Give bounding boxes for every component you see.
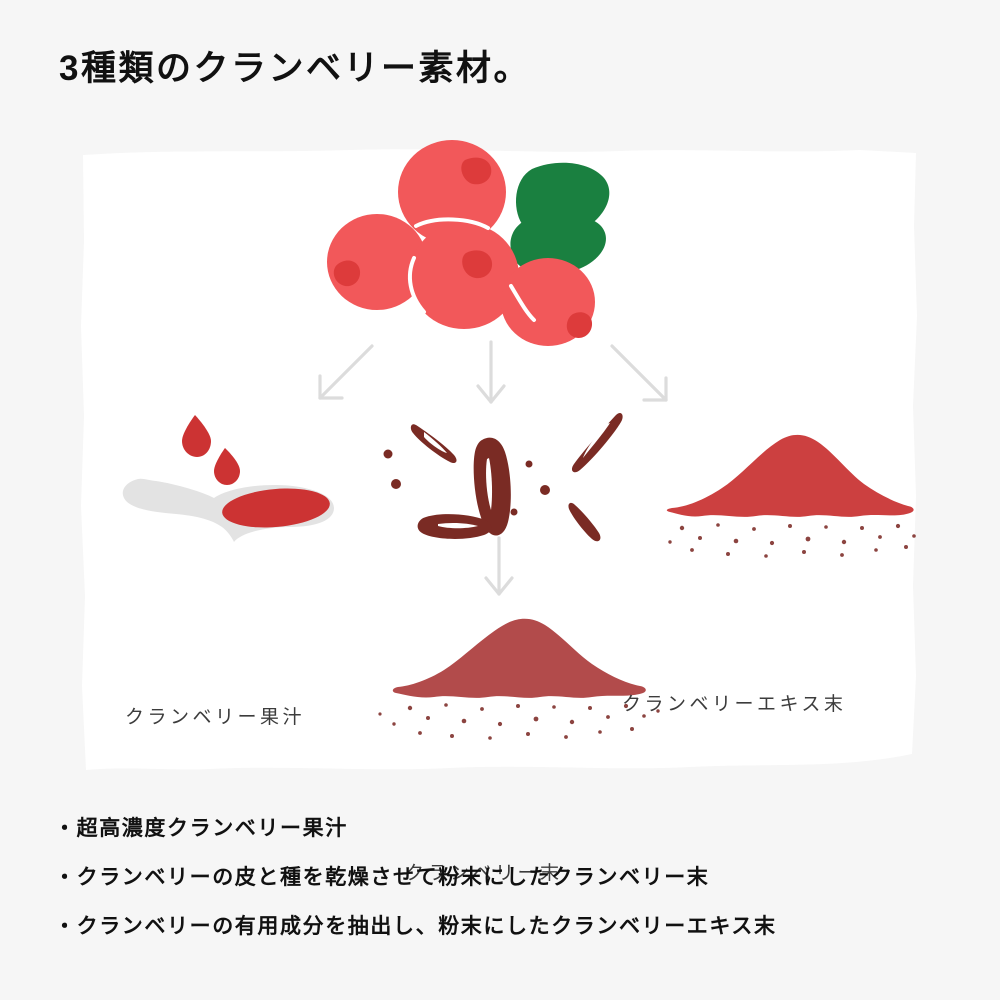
label-cranberry-juice: クランベリー果汁 — [125, 702, 305, 729]
page-title: 3種類のクランベリー素材。 — [59, 48, 531, 90]
cranberry-cluster-icon — [327, 140, 609, 346]
label-cranberry-extract-powder: クランベリーエキス末 — [622, 689, 846, 716]
extract-powder-specks — [668, 523, 916, 558]
seed-1 — [384, 450, 393, 459]
bullet-list: ・超高濃度クランベリー果汁 ・クランベリーの皮と種を乾燥させて粉末にしたクランベ… — [54, 818, 974, 965]
juice-drop-upper — [182, 415, 211, 457]
seed-5 — [511, 509, 518, 516]
bullet-item: ・クランベリーの有用成分を抽出し、粉末にしたクランベリーエキス末 — [54, 916, 974, 937]
arrow-seeds-to-powder — [486, 538, 512, 594]
extract-powder-mound-icon — [667, 435, 916, 558]
skin-bottom-right — [568, 503, 600, 541]
powder-mound-shape — [393, 619, 646, 698]
illustration-panel: クランベリー果汁 クランベリー末 クランベリーエキス末 — [80, 146, 918, 774]
powder-specks — [378, 703, 659, 740]
dried-skins-and-seeds-icon — [384, 413, 623, 541]
arrow-to-seeds — [478, 342, 504, 402]
bullet-item: ・超高濃度クランベリー果汁 — [54, 818, 974, 839]
seed-4 — [526, 461, 533, 468]
spoon-with-juice-drops-icon — [123, 415, 334, 542]
powder-mound-icon — [378, 619, 659, 740]
seed-2 — [391, 479, 401, 489]
bullet-item: ・クランベリーの皮と種を乾燥させて粉末にしたクランベリー末 — [54, 867, 974, 888]
berry-spot-right — [567, 312, 592, 338]
arrow-to-juice — [320, 346, 372, 398]
seed-3 — [540, 485, 550, 495]
extract-mound-shape — [667, 435, 914, 517]
juice-drop-lower — [214, 448, 240, 485]
skin-upper-right — [572, 413, 623, 472]
diagram-artwork — [80, 146, 918, 774]
arrow-to-extract — [612, 346, 666, 400]
